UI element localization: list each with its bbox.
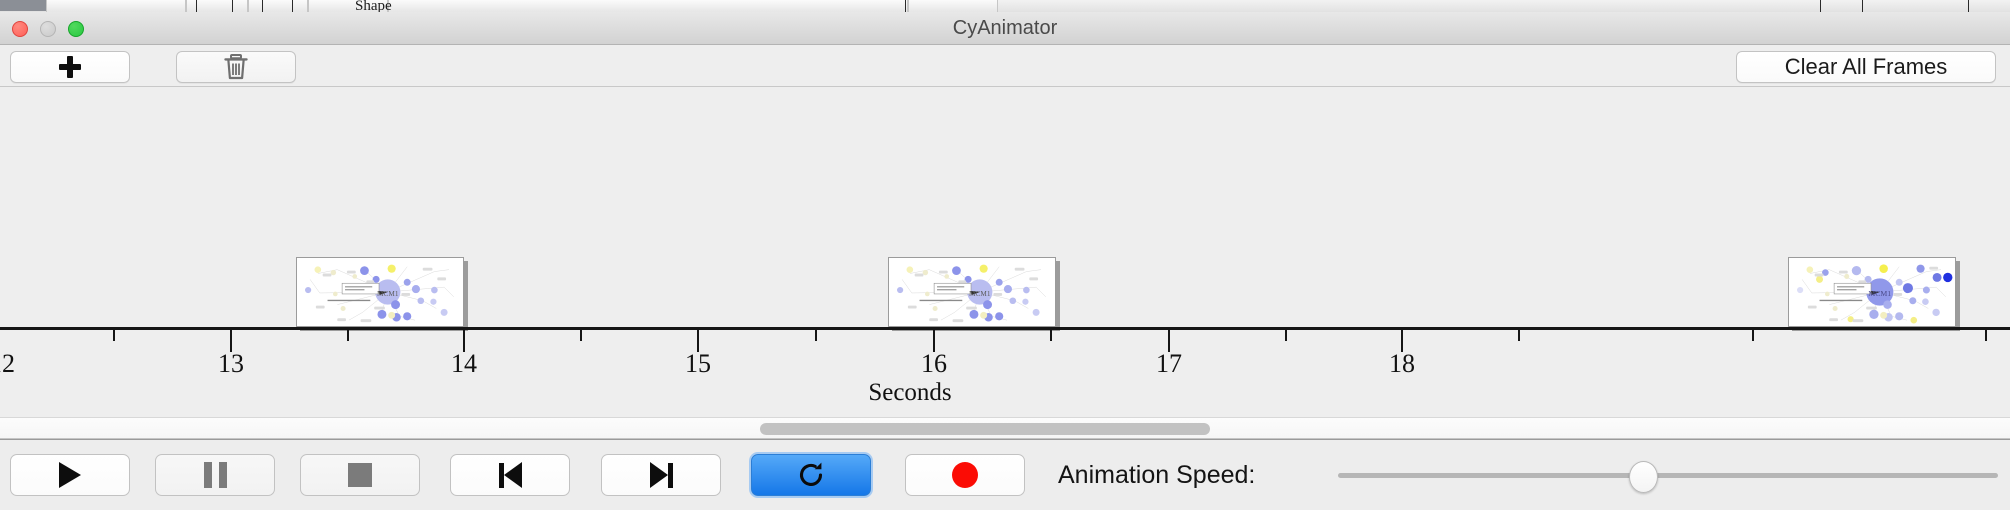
axis-minor-tick [1985, 330, 1987, 341]
axis-minor-tick [113, 330, 115, 341]
previous-frame-button[interactable] [450, 454, 570, 496]
axis-minor-tick [815, 330, 817, 341]
delete-frame-button[interactable] [176, 51, 296, 83]
horizontal-scrollbar[interactable] [0, 417, 2010, 439]
loop-icon [796, 460, 826, 490]
axis-tick-label: 14 [451, 349, 477, 379]
axis-tick-label: 17 [1156, 349, 1182, 379]
frame-thumbnail[interactable]: MCM1 [296, 257, 464, 327]
background-window-segment [248, 0, 308, 12]
pause-icon [204, 462, 227, 488]
background-window-tick [905, 0, 906, 12]
transport-bar: Animation Speed: [0, 439, 2010, 510]
background-window-tick [262, 0, 263, 12]
stop-icon [348, 463, 372, 487]
background-window-dark-block [0, 0, 46, 11]
clear-all-frames-button[interactable]: Clear All Frames [1736, 51, 1996, 83]
record-icon [952, 462, 978, 488]
loop-button[interactable] [751, 454, 871, 496]
plus-icon [59, 56, 81, 78]
stop-button[interactable] [300, 454, 420, 496]
background-window-segment [388, 0, 908, 12]
title-bar: CyAnimator [0, 12, 2010, 45]
axis-tick-label: 16 [921, 349, 947, 379]
background-window-segment [46, 0, 186, 12]
svg-text:MCM1: MCM1 [969, 290, 991, 298]
axis-tick-label: 12 [0, 349, 15, 379]
animation-speed-slider[interactable] [1338, 454, 1998, 496]
trash-icon [223, 53, 249, 81]
axis-title: Seconds [868, 379, 951, 407]
background-window-tick [292, 0, 293, 12]
network-thumbnail-graphic: MCM1 [889, 258, 1055, 326]
svg-text:MCM1: MCM1 [1868, 289, 1891, 298]
background-window-tick [232, 0, 233, 12]
animation-speed-label: Animation Speed: [1058, 454, 1255, 496]
play-button[interactable] [10, 454, 130, 496]
play-icon [59, 462, 81, 488]
window-title: CyAnimator [0, 12, 2010, 44]
axis-minor-tick [1518, 330, 1520, 341]
add-frame-button[interactable] [10, 51, 130, 83]
skip-forward-icon [650, 462, 673, 488]
background-window-segment [908, 0, 998, 12]
skip-back-icon [499, 462, 522, 488]
background-window-tick [1862, 0, 1863, 12]
axis-minor-tick [347, 330, 349, 341]
scrollbar-thumb[interactable] [760, 423, 1210, 435]
slider-thumb[interactable] [1629, 461, 1658, 493]
axis-minor-tick [1752, 330, 1754, 341]
timeline-panel[interactable]: MCM1 [0, 87, 2010, 417]
frame-thumbnail[interactable]: MCM1 [888, 257, 1056, 327]
network-thumbnail-graphic: MCM1 [297, 258, 463, 326]
record-button[interactable] [905, 454, 1025, 496]
pause-button[interactable] [155, 454, 275, 496]
axis-tick-label: 15 [685, 349, 711, 379]
network-thumbnail-graphic: MCM1 [1789, 258, 1955, 326]
background-window-tick [1820, 0, 1821, 12]
svg-text:MCM1: MCM1 [377, 290, 399, 298]
slider-track [1338, 473, 1998, 478]
axis-minor-tick [1285, 330, 1287, 341]
next-frame-button[interactable] [601, 454, 721, 496]
toolbar: Clear All Frames [0, 45, 2010, 87]
frame-thumbnail[interactable]: MCM1 [1788, 257, 1956, 327]
timeline-axis [0, 327, 2010, 330]
background-window-tick [1968, 0, 1969, 12]
axis-minor-tick [580, 330, 582, 341]
axis-tick-label: 13 [218, 349, 244, 379]
background-window-tick [196, 0, 197, 12]
axis-tick-label: 18 [1389, 349, 1415, 379]
cyanimator-window: Shape CyAnimator Clear All Frames [0, 0, 2010, 510]
axis-minor-tick [1050, 330, 1052, 341]
